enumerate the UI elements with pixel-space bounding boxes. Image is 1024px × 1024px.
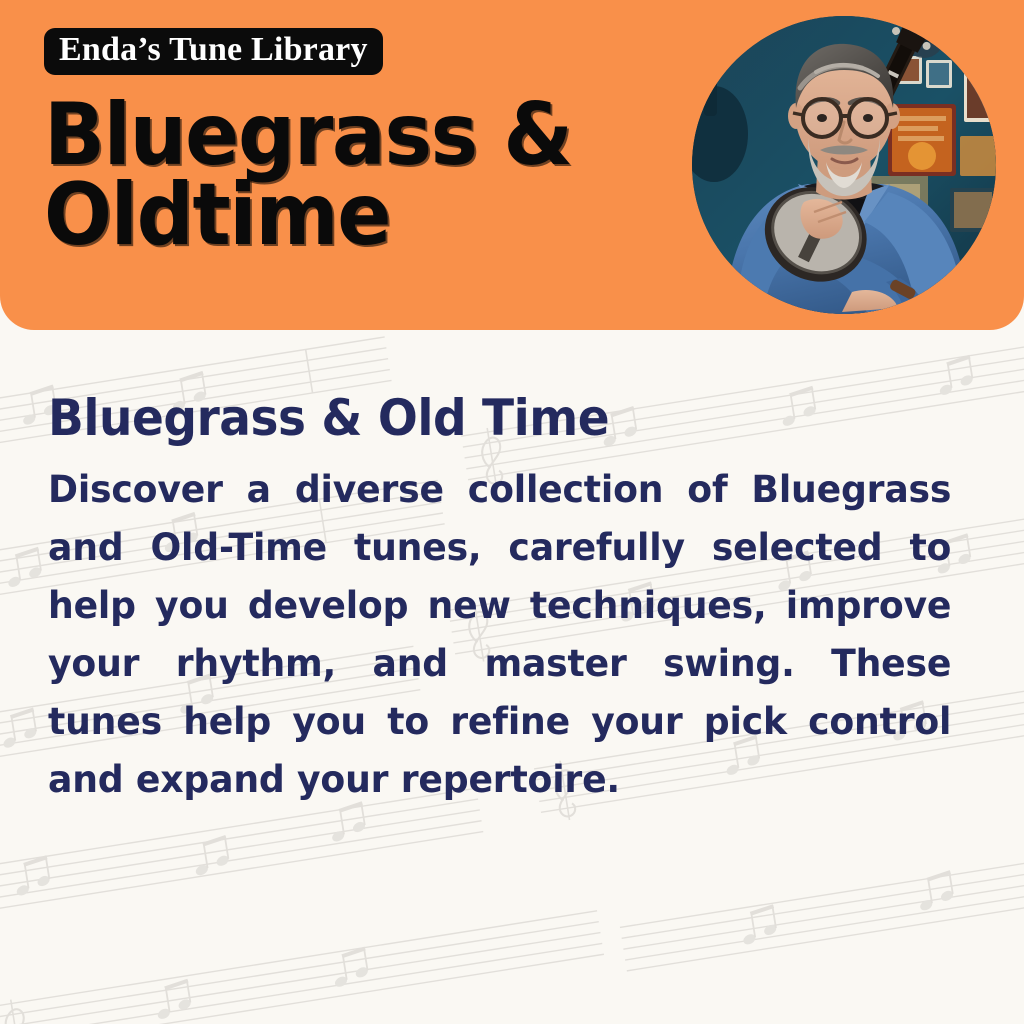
card-header: Enda’s Tune Library Bluegrass & Oldtime	[0, 0, 1024, 330]
tune-library-card: Enda’s Tune Library Bluegrass & Oldtime	[0, 0, 1024, 1024]
page-title-line-1: Bluegrass &	[44, 96, 621, 176]
eyebrow-badge: Enda’s Tune Library	[44, 28, 383, 75]
section-title: Bluegrass & Old Time	[48, 393, 609, 443]
card-body: Bluegrass & Old Time Discover a diverse …	[0, 330, 1024, 1024]
page-title: Bluegrass & Oldtime	[44, 96, 621, 256]
instructor-portrait	[692, 16, 996, 314]
eyebrow-label: Enda’s Tune Library	[59, 33, 368, 67]
page-title-line-2: Oldtime	[44, 176, 621, 256]
section-description: Discover a diverse collection of Bluegra…	[48, 460, 951, 808]
